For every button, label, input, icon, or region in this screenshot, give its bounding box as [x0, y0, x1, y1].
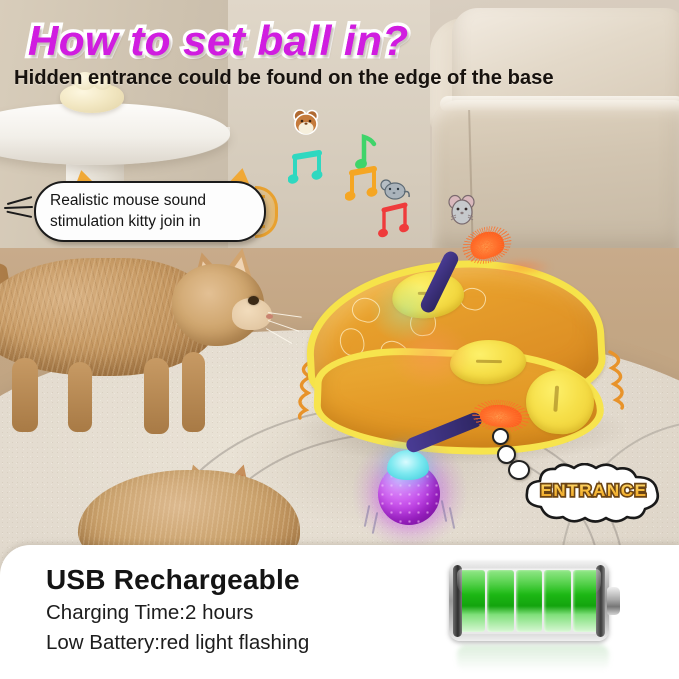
entrance-label: ENTRANCE — [521, 481, 667, 501]
product-marketing-image: ENTRANCE ENTRANCE How to set ball in? Ho… — [0, 0, 679, 679]
cat-leg-2 — [68, 362, 92, 432]
callout-line-2: stimulation kitty join in — [50, 211, 254, 232]
feather-lower — [479, 403, 523, 429]
feather-motion-blur-upper — [492, 258, 552, 276]
entrance-badge: ENTRANCE ENTRANCE — [521, 463, 667, 525]
battery-gloss — [457, 569, 601, 595]
feather-upper — [467, 227, 507, 262]
cat-leg-4 — [182, 352, 205, 432]
feature-callout: Realistic mouse sound stimulation kitty … — [34, 181, 266, 242]
cat-eye — [248, 296, 259, 305]
page-subtitle: Hidden entrance could be found on the ed… — [14, 66, 664, 90]
callout-text: Realistic mouse sound stimulation kitty … — [50, 190, 254, 232]
usb-low-battery: Low Battery:red light flashing — [46, 631, 309, 655]
usb-charging-time: Charging Time:2 hours — [46, 601, 253, 625]
ball-led-cap — [387, 450, 429, 480]
cat-walking — [0, 240, 276, 430]
cat-nose — [266, 314, 273, 319]
page-title: How to set ball in? — [28, 17, 409, 65]
cat-leg-3 — [144, 358, 169, 434]
thought-dot-1 — [492, 428, 509, 445]
teal-beamed-note-icon — [288, 150, 326, 193]
red-beamed-note-icon — [378, 200, 414, 247]
cat-leg-1 — [12, 358, 38, 432]
battery-icon — [449, 561, 621, 643]
gray-mouse-right-icon — [447, 193, 477, 232]
usb-panel-title: USB Rechargeable — [46, 564, 300, 596]
brown-mouse-icon — [291, 108, 321, 143]
sofa-highlight — [440, 96, 679, 112]
callout-line-1: Realistic mouse sound — [50, 190, 254, 211]
battery-reflection — [457, 645, 609, 671]
battery-terminal — [607, 587, 620, 615]
